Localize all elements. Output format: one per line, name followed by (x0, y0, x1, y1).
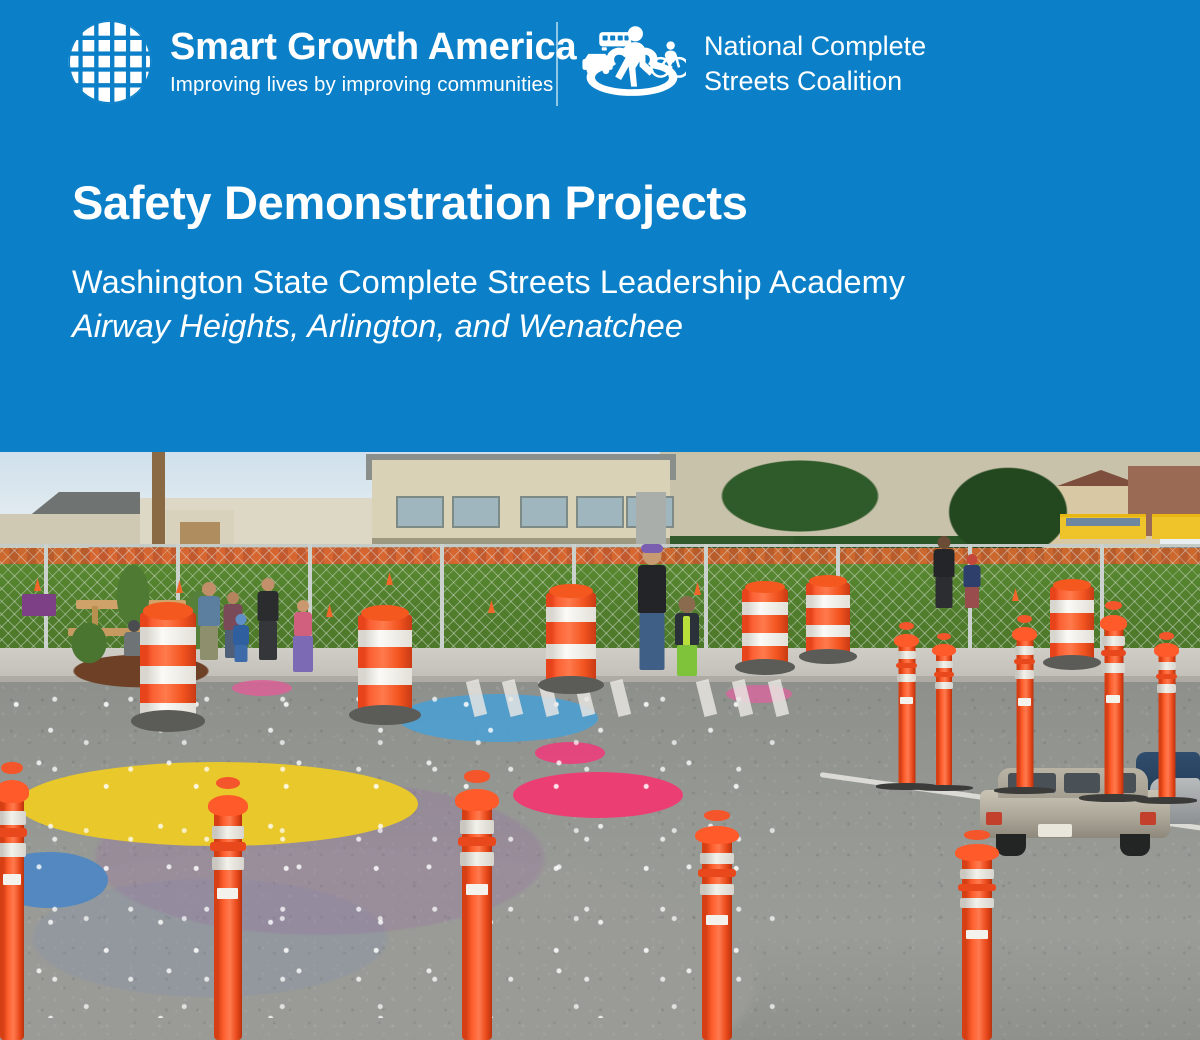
title-block: Safety Demonstration Projects Washington… (72, 178, 1132, 345)
drum-stripe (806, 625, 850, 638)
sga-name: Smart Growth America (170, 28, 576, 66)
reflective-band (212, 857, 244, 870)
post-label (1106, 695, 1120, 703)
post-collar (458, 837, 496, 845)
post-cap (0, 780, 29, 803)
reflective-band (460, 820, 495, 833)
traffic-drum (358, 614, 412, 714)
drum-stripe (742, 633, 788, 646)
delineator-post (936, 648, 952, 788)
drum-body (1050, 586, 1094, 662)
post-cap (455, 789, 498, 811)
drum-stripe (546, 644, 596, 660)
drum-base (131, 710, 205, 732)
reflective-band (935, 661, 954, 669)
drum-body (806, 582, 850, 656)
post-collar (1156, 674, 1178, 679)
torso (294, 612, 312, 636)
purple-sign (22, 594, 56, 616)
page-locations: Airway Heights, Arlington, and Wenatchee (72, 300, 1132, 344)
post-label (706, 915, 728, 925)
post-shaft (936, 648, 952, 788)
drum-stripe (358, 630, 412, 647)
post-cap (695, 826, 738, 845)
reflective-band (1157, 662, 1177, 670)
skirt (293, 636, 313, 672)
delineator-post (1104, 620, 1123, 798)
hero-photo (0, 452, 1200, 1040)
legs (200, 626, 218, 660)
header-banner: Smart Growth America Improving lives by … (0, 0, 1200, 452)
person-adult (256, 578, 280, 660)
head (679, 596, 696, 613)
post-shaft (898, 638, 915, 786)
delineator-post-foreground (462, 796, 492, 1040)
complete-streets-road-loop-icon (578, 22, 686, 106)
drum-stripe (358, 668, 412, 685)
post-label (1018, 698, 1031, 705)
pants (677, 645, 697, 676)
post-knob (964, 830, 990, 840)
bandana (641, 544, 663, 553)
fence-post (440, 544, 444, 662)
mural-white-stars (0, 688, 800, 1018)
legs (936, 577, 953, 608)
school-window (576, 496, 624, 528)
torso (934, 549, 955, 577)
drum-stripe (140, 627, 196, 645)
person-adult (196, 582, 222, 660)
reflective-band (1102, 636, 1124, 646)
post-shaft (1016, 632, 1033, 790)
post-collar (896, 663, 918, 668)
slide-root: Smart Growth America Improving lives by … (0, 0, 1200, 1040)
sga-tagline: Improving lives by improving communities (170, 75, 576, 96)
person-child (232, 614, 250, 662)
head (128, 620, 140, 632)
delineator-post-foreground (702, 832, 732, 1040)
post-knob (704, 810, 730, 820)
reflective-band (1015, 670, 1035, 679)
person-child-right (962, 554, 982, 608)
torso (964, 565, 981, 587)
post-label (217, 888, 238, 899)
post-collar (1101, 650, 1125, 656)
post-collar (958, 884, 996, 890)
reflective-band (1015, 646, 1035, 655)
post-cap (1012, 627, 1036, 641)
drum-stripe (1050, 630, 1094, 643)
tank-top (638, 565, 666, 613)
post-collar (0, 828, 27, 837)
national-complete-streets-coalition-logo[interactable]: National Complete Streets Coalition (578, 22, 926, 106)
head (938, 536, 951, 549)
school-window (520, 496, 568, 528)
reflective-band (897, 674, 917, 682)
drum-base (349, 705, 420, 725)
deciduous-tree (690, 452, 910, 548)
torso (258, 591, 279, 621)
person-adult-right (932, 536, 956, 608)
post-shaft (1158, 648, 1175, 800)
post-collar (934, 672, 954, 677)
jacket-stripe (683, 616, 690, 646)
post-cap (1100, 615, 1127, 631)
delineator-post (1016, 632, 1033, 790)
school-bus-windows (1066, 518, 1140, 526)
torso (233, 625, 249, 645)
traffic-drum (742, 588, 788, 666)
ncsc-wordmark: National Complete Streets Coalition (704, 29, 926, 99)
drum-base (735, 659, 796, 675)
drum-base (538, 676, 604, 694)
reflective-band (1157, 684, 1177, 692)
reflective-band (897, 651, 917, 659)
post-knob (216, 777, 241, 789)
post-label (466, 884, 488, 895)
page-title: Safety Demonstration Projects (72, 178, 1132, 229)
drum-stripe (1050, 600, 1094, 613)
ncsc-line-2: Streets Coalition (704, 64, 926, 99)
post-knob (464, 770, 490, 782)
delineator-post-foreground (0, 788, 24, 1040)
reflective-band (700, 853, 735, 864)
reflective-band (960, 898, 995, 908)
school-bus (1152, 514, 1200, 539)
drum-stripe (806, 595, 850, 608)
traffic-drum (140, 612, 196, 720)
reflective-band (960, 869, 995, 879)
reflective-band (460, 852, 495, 865)
legs (235, 645, 248, 662)
school-window (452, 496, 500, 528)
post-collar (210, 842, 246, 850)
drum-body (358, 614, 412, 714)
post-shaft (0, 788, 24, 1040)
shrub (62, 612, 116, 674)
head-with-helmet (236, 614, 247, 625)
person-child (292, 600, 314, 672)
drum-stripe (140, 666, 196, 684)
drum-top (143, 602, 192, 619)
smart-growth-america-logo[interactable]: Smart Growth America Improving lives by … (66, 18, 576, 106)
delineator-post-foreground (962, 850, 992, 1040)
reflective-band (935, 682, 954, 690)
post-cap (894, 634, 918, 647)
delineator-post-foreground (214, 802, 242, 1040)
drum-top (361, 605, 409, 621)
ncsc-line-1: National Complete (704, 29, 926, 64)
post-label (900, 697, 913, 704)
logo-bar: Smart Growth America Improving lives by … (0, 0, 1200, 126)
head (297, 600, 309, 612)
smart-growth-america-circle-weave-logo (66, 18, 154, 106)
post-cap (932, 644, 955, 657)
post-knob (899, 622, 914, 629)
post-collar (698, 869, 736, 876)
head (262, 578, 275, 591)
post-cap (1154, 643, 1178, 657)
license-plate (1038, 824, 1072, 837)
head (202, 582, 216, 596)
suv-wheel (1120, 834, 1150, 856)
torso (198, 596, 220, 626)
post-cap (208, 795, 248, 816)
fence-post (704, 544, 708, 662)
reflective-band (700, 884, 735, 895)
suv-vehicle (980, 768, 1170, 852)
reflective-band (212, 826, 244, 839)
post-collar (1014, 659, 1036, 664)
fence-top-rail (0, 544, 1200, 547)
reflective-band (0, 811, 26, 825)
drum-body (742, 588, 788, 666)
post-label (966, 930, 988, 939)
drum-stripe (742, 602, 788, 615)
post-knob (1, 762, 22, 775)
post-label (3, 874, 21, 886)
jeans (640, 613, 665, 670)
head (227, 592, 239, 604)
traffic-drum (1050, 586, 1094, 662)
delineator-post (898, 638, 915, 786)
page-subtitle: Washington State Complete Streets Leader… (72, 229, 1132, 300)
traffic-drum (806, 582, 850, 656)
logo-divider (556, 22, 558, 106)
suv-wheel (996, 834, 1026, 856)
drum-stripe (546, 607, 596, 623)
traffic-drum (546, 592, 596, 684)
reflective-band (1102, 663, 1124, 673)
person-child-crossing (672, 596, 702, 676)
school-window (396, 496, 444, 528)
legs (965, 587, 979, 608)
suv-taillight (1140, 812, 1156, 825)
post-base (1136, 797, 1197, 804)
suv-side-window (1064, 773, 1100, 793)
head-with-cap (967, 554, 978, 565)
delineator-post (1158, 648, 1175, 800)
person-adult-crossing (634, 546, 670, 670)
reflective-band (0, 843, 26, 857)
post-cap (955, 844, 998, 861)
post-shaft (1104, 620, 1123, 798)
suv-taillight (986, 812, 1002, 825)
sga-wordmark: Smart Growth America Improving lives by … (170, 28, 576, 96)
post-knob (1159, 632, 1174, 640)
post-base (994, 787, 1055, 794)
legs (259, 621, 277, 660)
